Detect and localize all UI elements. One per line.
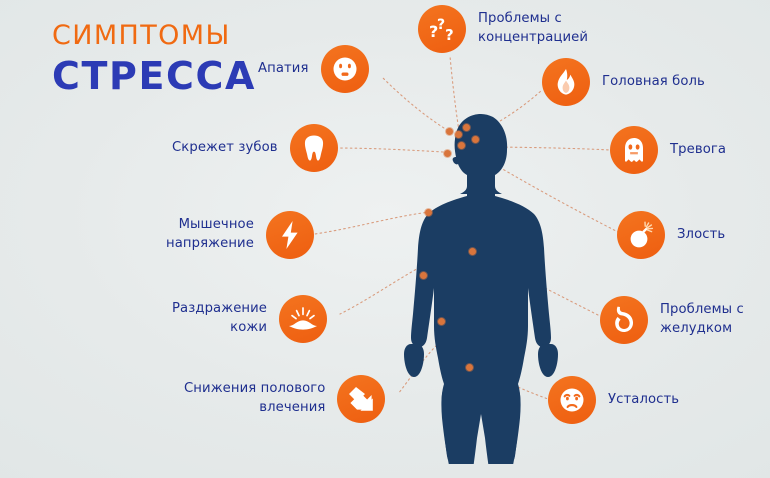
- hip-node: [420, 272, 427, 279]
- head-node-1: [446, 128, 453, 135]
- question-marks-icon[interactable]: ? ? ?: [418, 5, 466, 53]
- thigh-node: [438, 318, 445, 325]
- chest-node: [469, 248, 476, 255]
- symptom-label-anger: Злость: [677, 226, 725, 245]
- symptom-skin-irritation[interactable]: Раздражение кожи: [172, 295, 327, 343]
- symptom-anxiety[interactable]: Тревога: [610, 126, 726, 174]
- head-node-4: [472, 136, 479, 143]
- symptom-label-muscle-tension: Мышечное напряжение: [166, 216, 254, 253]
- symptom-headache[interactable]: Головная боль: [542, 58, 705, 106]
- shoulder-node: [425, 209, 432, 216]
- symptom-stomach-problems[interactable]: Проблемы с желудком: [600, 296, 744, 344]
- page-title: СИМПТОМЫ СТРЕССА: [52, 22, 256, 95]
- symptom-label-apathy: Апатия: [258, 60, 309, 79]
- symptom-label-anxiety: Тревога: [670, 141, 726, 160]
- title-line-2: СТРЕССА: [52, 57, 256, 95]
- sad-face-icon[interactable]: [548, 376, 596, 424]
- symptom-fatigue[interactable]: Усталость: [548, 376, 679, 424]
- skin-rash-icon[interactable]: [279, 295, 327, 343]
- symptom-anger[interactable]: Злость: [617, 211, 725, 259]
- head-node-2: [455, 131, 462, 138]
- human-silhouette: [398, 112, 564, 464]
- symptom-label-low-libido: Снижения полового влечения: [184, 380, 325, 417]
- tooth-icon[interactable]: [290, 124, 338, 172]
- down-arrow-icon[interactable]: [337, 375, 385, 423]
- symptom-label-fatigue: Усталость: [608, 391, 679, 410]
- symptom-label-headache: Головная боль: [602, 73, 705, 92]
- symptom-muscle-tension[interactable]: Мышечное напряжение: [166, 211, 314, 259]
- bomb-icon[interactable]: [617, 211, 665, 259]
- svg-text:?: ?: [437, 17, 445, 33]
- symptom-concentration[interactable]: ? ? ? Проблемы с концентрацией: [418, 5, 588, 53]
- ghost-icon[interactable]: [610, 126, 658, 174]
- symptom-label-teeth-grinding: Скрежет зубов: [172, 139, 278, 158]
- head-node-5: [458, 142, 465, 149]
- symptom-teeth-grinding[interactable]: Скрежет зубов: [172, 124, 338, 172]
- title-line-1: СИМПТОМЫ: [52, 22, 256, 49]
- symptom-apathy[interactable]: Апатия: [258, 45, 369, 93]
- flame-icon[interactable]: [542, 58, 590, 106]
- stomach-icon[interactable]: [600, 296, 648, 344]
- infographic-canvas: СИМПТОМЫ СТРЕССА: [0, 0, 770, 478]
- symptom-label-concentration: Проблемы с концентрацией: [478, 10, 588, 47]
- symptom-low-libido[interactable]: Снижения полового влечения: [184, 375, 385, 423]
- symptom-label-stomach-problems: Проблемы с желудком: [660, 301, 744, 338]
- symptom-label-skin-irritation: Раздражение кожи: [172, 300, 267, 337]
- head-node-6: [444, 150, 451, 157]
- knee-node: [466, 364, 473, 371]
- head-node-3: [463, 124, 470, 131]
- svg-text:?: ?: [445, 26, 454, 44]
- lightning-bolt-icon[interactable]: [266, 211, 314, 259]
- neutral-face-icon[interactable]: [321, 45, 369, 93]
